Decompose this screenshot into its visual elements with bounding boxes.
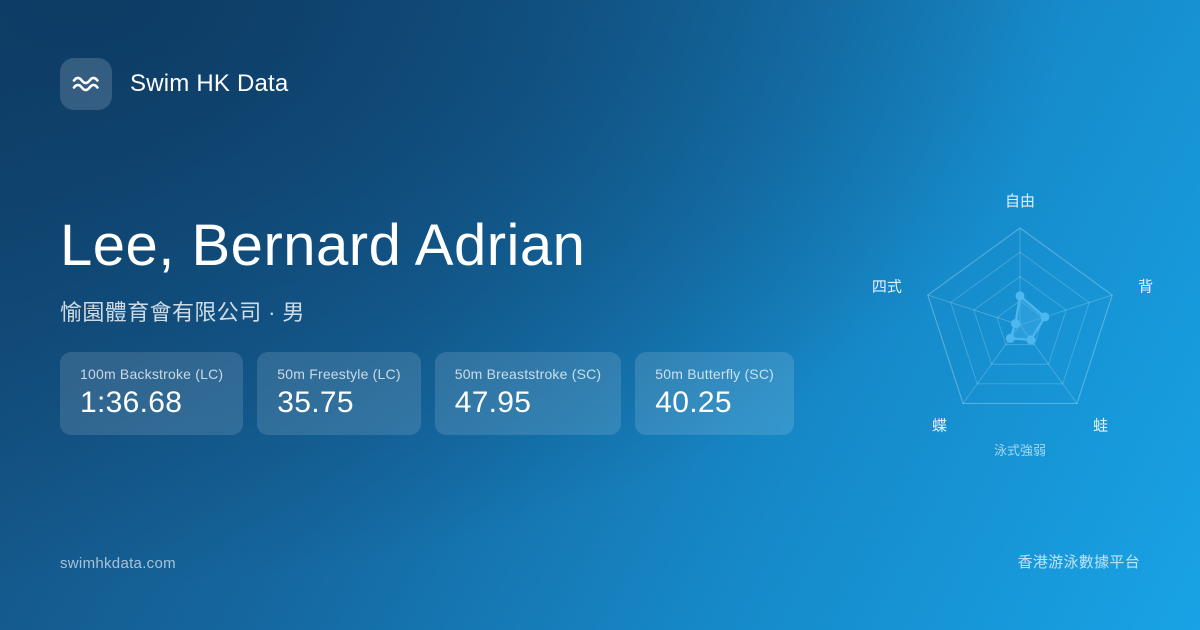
- stroke-strength-radar-chart: 自由背蛙蝶四式 泳式強弱: [855, 160, 1185, 480]
- headline-block: Lee, Bernard Adrian 愉園體育會有限公司 · 男: [60, 216, 585, 327]
- stat-label: 50m Butterfly (SC): [655, 366, 774, 382]
- footer-site-url[interactable]: swimhkdata.com: [60, 555, 176, 572]
- brand-header: Swim HK Data: [60, 58, 288, 110]
- app-logo: [60, 58, 112, 110]
- athlete-meta: 愉園體育會有限公司 · 男: [60, 295, 585, 327]
- radar-axis-label-1: 背: [1138, 279, 1153, 296]
- radar-axis-label-0: 自由: [1005, 193, 1035, 210]
- brand-name: Swim HK Data: [130, 70, 288, 98]
- stat-value: 40.25: [655, 387, 774, 419]
- stat-card: 50m Freestyle (LC) 35.75: [257, 352, 420, 435]
- wave-icon: [71, 72, 101, 96]
- footer-tagline: 香港游泳數據平台: [1018, 551, 1140, 572]
- stat-value: 1:36.68: [80, 387, 223, 419]
- share-card: Swim HK Data Lee, Bernard Adrian 愉園體育會有限…: [0, 0, 1200, 630]
- stat-label: 100m Backstroke (LC): [80, 366, 223, 382]
- radar-axis-label-3: 蝶: [932, 417, 947, 434]
- stat-label: 50m Breaststroke (SC): [455, 366, 602, 382]
- stat-card: 50m Breaststroke (SC) 47.95: [435, 352, 622, 435]
- stat-value: 47.95: [455, 387, 602, 419]
- stat-label: 50m Freestyle (LC): [277, 366, 400, 382]
- radar-axis-label-4: 四式: [872, 279, 902, 296]
- stat-value: 35.75: [277, 387, 400, 419]
- stat-card: 100m Backstroke (LC) 1:36.68: [60, 352, 243, 435]
- radar-axis-labels: 自由背蛙蝶四式: [872, 193, 1153, 435]
- radar-caption: 泳式強弱: [994, 443, 1046, 458]
- stat-card-list: 100m Backstroke (LC) 1:36.68 50m Freesty…: [60, 352, 794, 435]
- stat-card: 50m Butterfly (SC) 40.25: [635, 352, 794, 435]
- radar-axis-label-2: 蛙: [1093, 417, 1108, 434]
- radar-series: [1010, 296, 1045, 340]
- athlete-name: Lee, Bernard Adrian: [60, 216, 585, 277]
